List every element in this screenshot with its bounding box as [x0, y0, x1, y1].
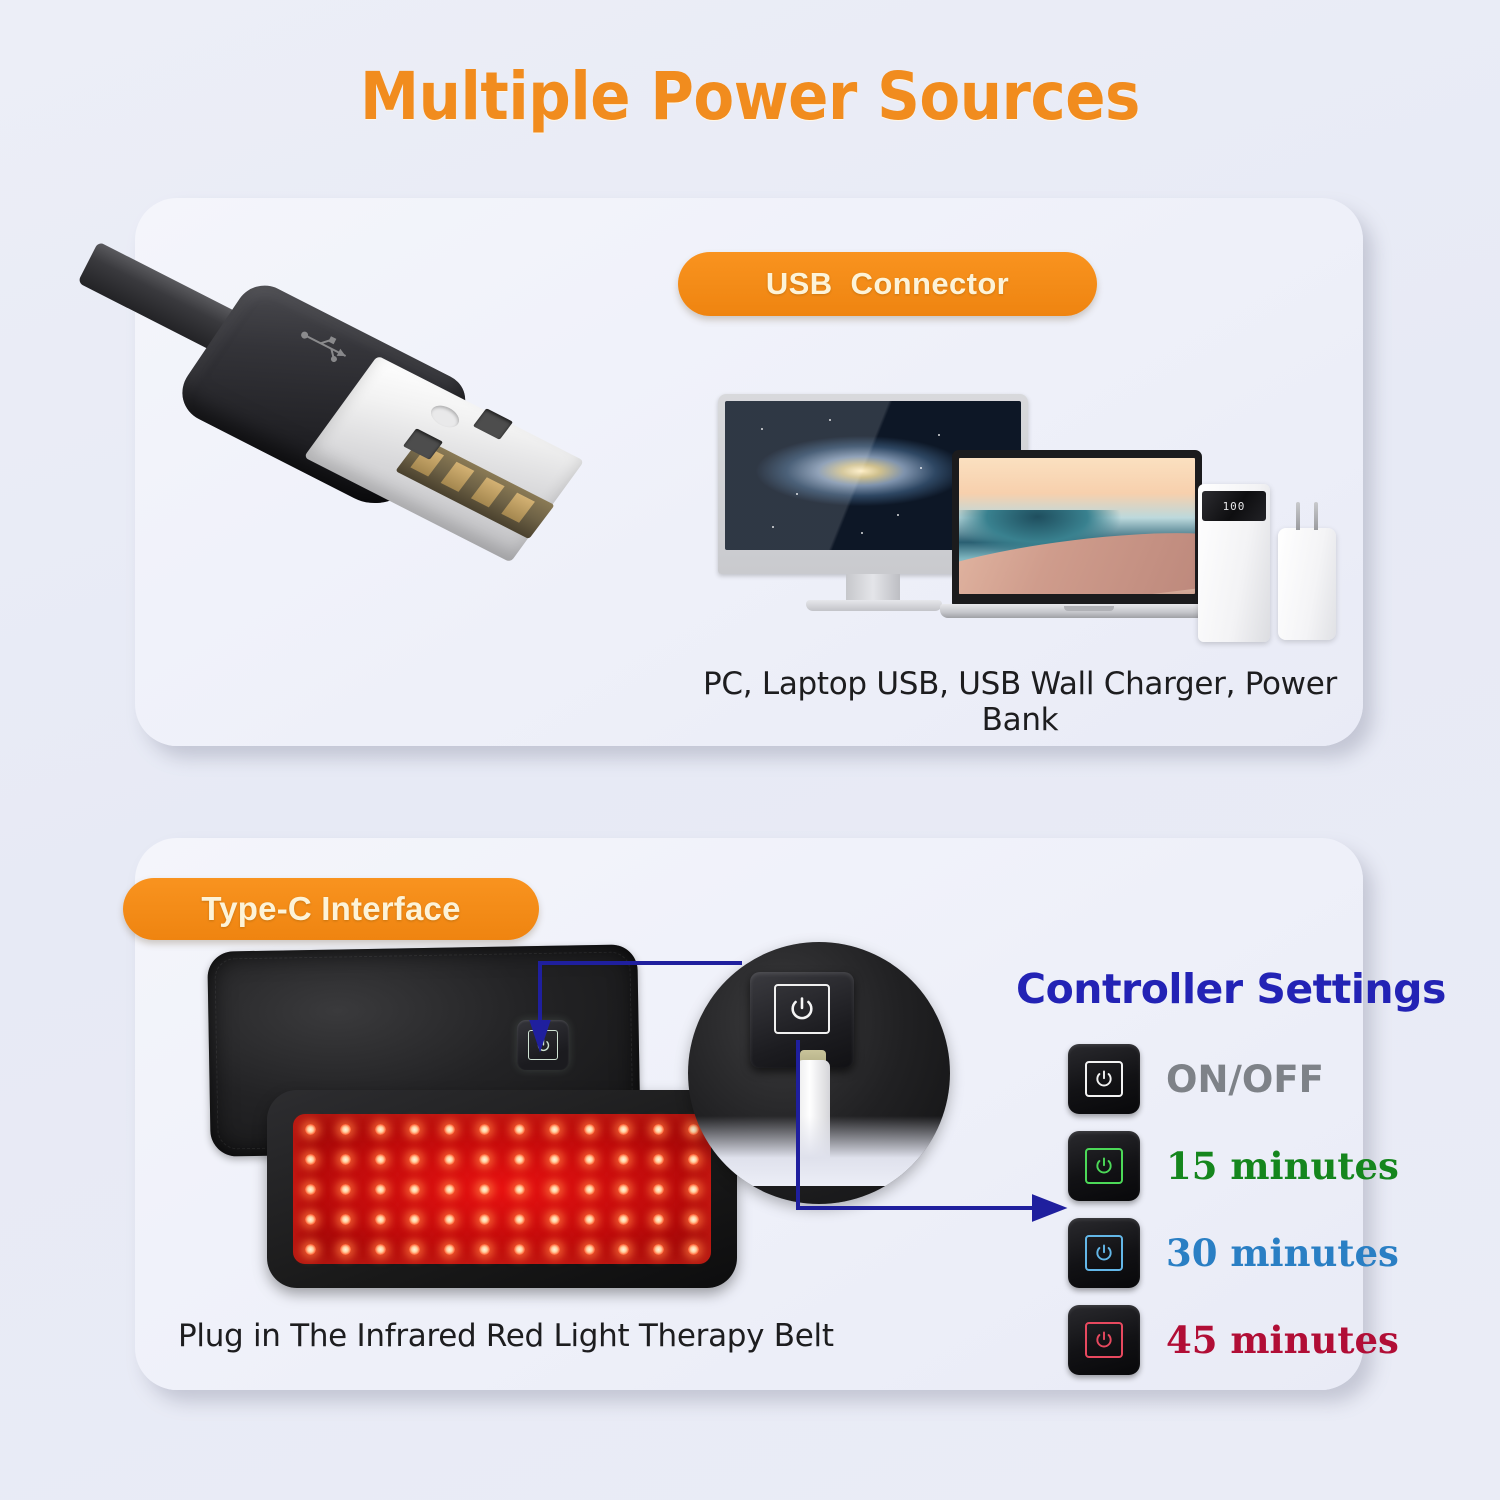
- power-icon: [528, 1030, 558, 1060]
- led-dot: [653, 1214, 664, 1225]
- led-dot: [618, 1154, 629, 1165]
- power-icon: [1085, 1061, 1123, 1097]
- power-icon: [1085, 1148, 1123, 1184]
- led-dot: [653, 1244, 664, 1255]
- led-dot: [444, 1124, 455, 1135]
- led-dot: [444, 1214, 455, 1225]
- belt-caption: Plug in The Infrared Red Light Therapy B…: [178, 1318, 834, 1354]
- controller-closeup-inset: [688, 942, 950, 1204]
- led-light-panel: [293, 1114, 711, 1264]
- led-dot: [305, 1214, 316, 1225]
- led-dot: [549, 1154, 560, 1165]
- led-dot: [444, 1184, 455, 1195]
- wall-charger: [1278, 528, 1336, 640]
- led-dot: [479, 1124, 490, 1135]
- led-dot: [340, 1244, 351, 1255]
- power-icon: [774, 984, 830, 1034]
- setting-row[interactable]: ON/OFF: [1068, 1043, 1398, 1115]
- led-dot: [375, 1214, 386, 1225]
- laptop: [952, 450, 1202, 630]
- setting-label: 30 minutes: [1166, 1231, 1399, 1275]
- led-dot: [479, 1154, 490, 1165]
- led-dot: [584, 1214, 595, 1225]
- led-dot: [479, 1244, 490, 1255]
- setting-row[interactable]: 15 minutes: [1068, 1130, 1398, 1202]
- led-dot: [584, 1244, 595, 1255]
- charger-prong-left: [1296, 502, 1300, 530]
- led-dot: [409, 1124, 420, 1135]
- setting-row[interactable]: 30 minutes: [1068, 1217, 1398, 1289]
- charger-prong-right: [1314, 502, 1318, 530]
- led-dot: [514, 1154, 525, 1165]
- led-dot: [618, 1214, 629, 1225]
- led-dot: [688, 1244, 699, 1255]
- led-dot: [514, 1124, 525, 1135]
- led-dot: [514, 1184, 525, 1195]
- setting-label: 15 minutes: [1166, 1144, 1399, 1188]
- led-dot: [305, 1184, 316, 1195]
- led-dot: [409, 1154, 420, 1165]
- led-dot: [549, 1124, 560, 1135]
- setting-row[interactable]: 45 minutes: [1068, 1304, 1398, 1376]
- led-dot: [549, 1244, 560, 1255]
- type-c-interface-badge: Type-C Interface: [123, 878, 539, 940]
- led-dot: [305, 1244, 316, 1255]
- usb-plug-illustration: [70, 215, 650, 615]
- led-dot: [514, 1244, 525, 1255]
- usb-connector-badge: USB Connector: [678, 252, 1097, 316]
- monitor-stand-neck: [846, 574, 900, 602]
- page-title: Multiple Power Sources: [75, 58, 1425, 135]
- led-dot: [340, 1184, 351, 1195]
- setting-label: ON/OFF: [1166, 1058, 1324, 1101]
- laptop-screen: [959, 458, 1195, 594]
- led-dot: [375, 1244, 386, 1255]
- therapy-belts: [195, 948, 735, 1288]
- led-dot: [584, 1184, 595, 1195]
- led-dot: [305, 1124, 316, 1135]
- laptop-lid: [952, 450, 1202, 606]
- monitor-stand-foot: [806, 600, 942, 611]
- led-dot: [444, 1154, 455, 1165]
- laptop-notch: [1064, 606, 1114, 611]
- led-dot: [305, 1154, 316, 1165]
- usb-sources-caption: PC, Laptop USB, USB Wall Charger, Power …: [680, 666, 1360, 738]
- led-dot: [584, 1154, 595, 1165]
- therapy-belt-front: [267, 1090, 737, 1288]
- setting-power-button[interactable]: [1068, 1131, 1140, 1201]
- led-dot: [653, 1184, 664, 1195]
- led-dot: [375, 1154, 386, 1165]
- controller-settings-title: Controller Settings: [1016, 965, 1446, 1013]
- led-dot: [409, 1214, 420, 1225]
- inset-fade: [688, 1116, 950, 1186]
- led-dot: [479, 1184, 490, 1195]
- led-dot: [340, 1214, 351, 1225]
- device-cluster: 100: [706, 388, 1336, 648]
- led-dot: [618, 1244, 629, 1255]
- setting-power-button[interactable]: [1068, 1218, 1140, 1288]
- led-dot: [340, 1154, 351, 1165]
- led-dot: [549, 1184, 560, 1195]
- led-dot: [409, 1184, 420, 1195]
- setting-label: 45 minutes: [1166, 1318, 1399, 1362]
- led-dot: [653, 1154, 664, 1165]
- controller-settings-list: ON/OFF15 minutes30 minutes45 minutes: [1068, 1043, 1398, 1391]
- led-dot: [618, 1184, 629, 1195]
- setting-power-button[interactable]: [1068, 1305, 1140, 1375]
- led-dot: [584, 1124, 595, 1135]
- led-dot: [375, 1124, 386, 1135]
- power-icon: [1085, 1235, 1123, 1271]
- belt-power-button[interactable]: [517, 1020, 569, 1070]
- power-bank: 100: [1198, 484, 1270, 642]
- led-dot: [653, 1124, 664, 1135]
- led-dot: [409, 1244, 420, 1255]
- led-dot: [514, 1214, 525, 1225]
- led-dot: [549, 1214, 560, 1225]
- infographic-page: Multiple Power Sources: [0, 0, 1500, 1500]
- led-dot: [444, 1244, 455, 1255]
- led-dot: [479, 1214, 490, 1225]
- power-bank-display: 100: [1202, 491, 1266, 521]
- led-dot: [688, 1214, 699, 1225]
- led-dot: [340, 1124, 351, 1135]
- power-icon: [1085, 1322, 1123, 1358]
- led-dot: [375, 1184, 386, 1195]
- led-dot: [618, 1124, 629, 1135]
- setting-power-button[interactable]: [1068, 1044, 1140, 1114]
